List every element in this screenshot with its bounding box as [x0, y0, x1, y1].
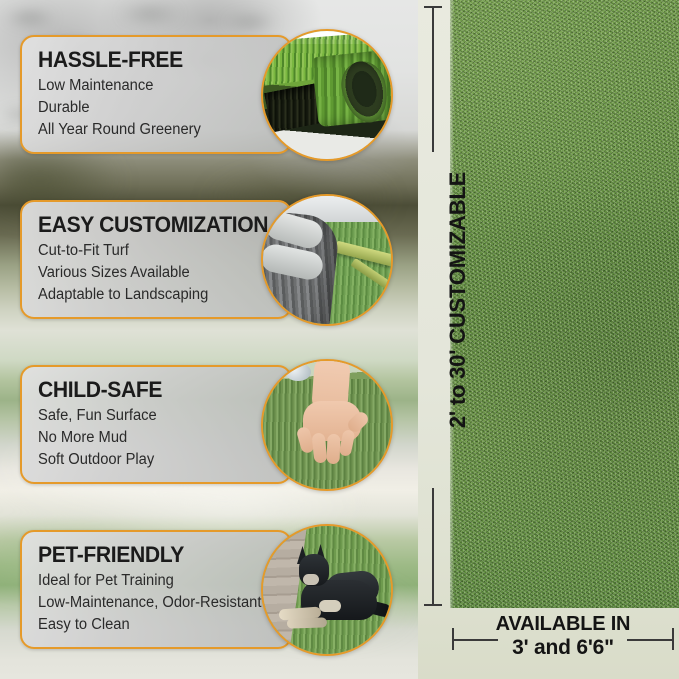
- child-hand-illustration: [263, 361, 391, 489]
- feature-image-child-hand: [261, 359, 393, 491]
- dog-snout: [303, 574, 319, 585]
- feature-image-turf-installation: [261, 194, 393, 326]
- feature-card-pet-friendly: PET-FRIENDLY Ideal for Pet Training Low-…: [20, 530, 292, 649]
- vertical-dimension-line-bottom: [432, 488, 434, 606]
- bottom-dimension-label: AVAILABLE IN 3' and 6'6": [452, 614, 674, 659]
- feature-bullet: Low-Maintenance, Odor-Resistant: [38, 592, 264, 614]
- bottom-label-line-1: AVAILABLE IN: [452, 614, 674, 636]
- feature-bullet: Easy to Clean: [38, 614, 264, 636]
- feature-image-turf-roll: [261, 29, 393, 161]
- feature-bullet: Safe, Fun Surface: [38, 405, 264, 427]
- turf-roll-illustration: [263, 31, 391, 159]
- feature-bullet: Ideal for Pet Training: [38, 570, 264, 592]
- vertical-dimension-line-top: [432, 6, 434, 152]
- bottom-label-line-2: 3' and 6'6": [452, 637, 674, 660]
- feature-card-easy-customization: EASY CUSTOMIZATION Cut-to-Fit Turf Vario…: [20, 200, 292, 319]
- feature-bullet: All Year Round Greenery: [38, 119, 264, 141]
- feature-title: HASSLE-FREE: [38, 48, 266, 71]
- turf-swatch-image: [450, 0, 679, 608]
- infographic-root: HASSLE-FREE Low Maintenance Durable All …: [0, 0, 679, 679]
- feature-bullet: Adaptable to Landscaping: [38, 284, 264, 306]
- feature-image-dog-on-turf: [261, 524, 393, 656]
- feature-card-child-safe: CHILD-SAFE Safe, Fun Surface No More Mud…: [20, 365, 292, 484]
- dog-foreleg: [287, 617, 327, 628]
- feature-title: PET-FRIENDLY: [38, 543, 266, 566]
- vertical-dimension-cap-bottom: [424, 604, 442, 606]
- feature-bullet: Durable: [38, 97, 264, 119]
- dog-chest-marking: [319, 600, 341, 612]
- toy-ball: [285, 363, 311, 381]
- installation-illustration: [263, 196, 391, 324]
- feature-card-hassle-free: HASSLE-FREE Low Maintenance Durable All …: [20, 35, 292, 154]
- feature-bullet: Soft Outdoor Play: [38, 449, 264, 471]
- feature-bullet: Low Maintenance: [38, 75, 264, 97]
- vertical-dimension-label: 2' to 30' CUSTOMIZABLE: [443, 130, 473, 470]
- dog-illustration: [263, 526, 391, 654]
- feature-title: CHILD-SAFE: [38, 378, 266, 401]
- feature-bullet: Various Sizes Available: [38, 262, 264, 284]
- feature-title: EASY CUSTOMIZATION: [38, 213, 266, 236]
- feature-bullet: No More Mud: [38, 427, 264, 449]
- feature-bullet: Cut-to-Fit Turf: [38, 240, 264, 262]
